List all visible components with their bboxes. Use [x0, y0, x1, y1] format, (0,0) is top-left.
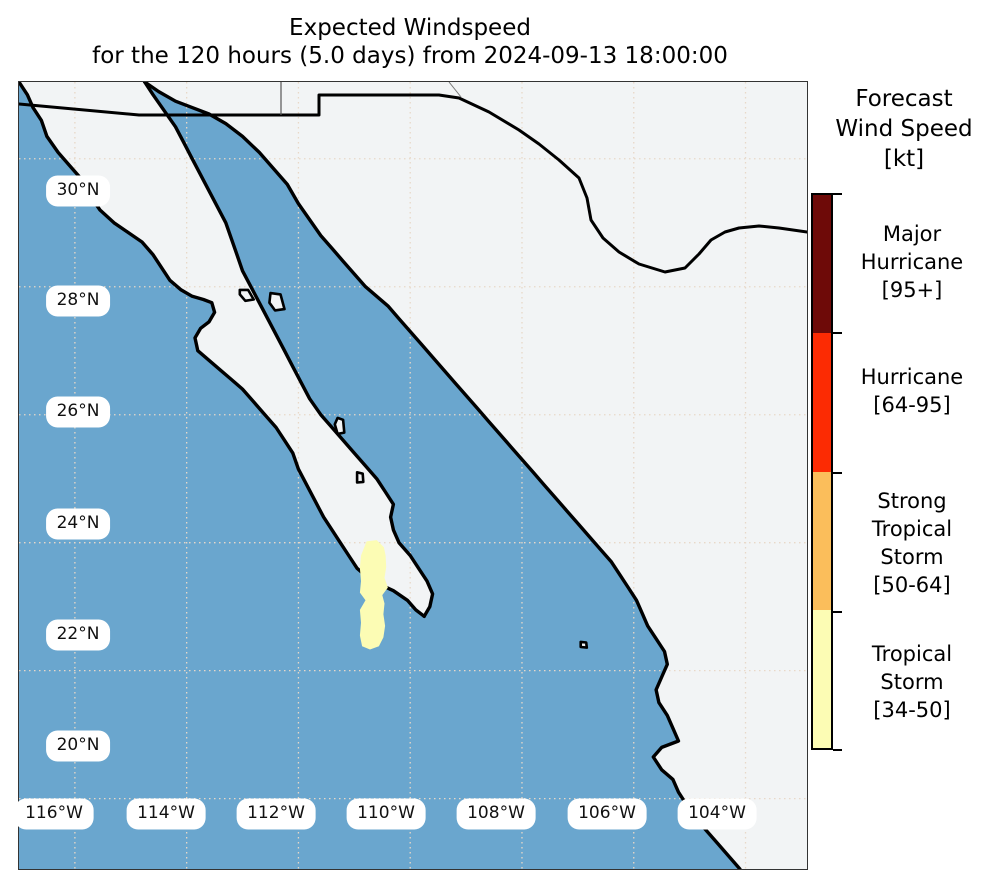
colorbar-label-strong-tropical-storm: Strong Tropical Storm [50-64]: [838, 487, 986, 599]
label-ts-line-1: Tropical: [838, 640, 986, 668]
colorbar-title-line-2: Wind Speed: [820, 114, 988, 144]
colorbar[interactable]: [811, 193, 833, 750]
colorbar-segment-hurricane[interactable]: [813, 333, 831, 471]
island-5: [581, 642, 587, 648]
label-major-hurricane-line-3: [95+]: [838, 276, 986, 304]
label-ts-line-2: Storm: [838, 668, 986, 696]
lat-label-28n: 28°N: [49, 288, 108, 314]
island-4: [357, 472, 363, 482]
lon-label-116w: 116°W: [17, 801, 91, 827]
label-strong-ts-line-4: [50-64]: [838, 571, 986, 599]
colorbar-segment-major-hurricane[interactable]: [813, 195, 831, 333]
colorbar-tick-50: [833, 611, 842, 613]
label-ts-line-3: [34-50]: [838, 696, 986, 724]
label-strong-ts-line-2: Tropical: [838, 515, 986, 543]
colorbar-tick-95: [833, 332, 842, 334]
lat-label-22n: 22°N: [49, 622, 108, 648]
lat-label-30n: 30°N: [49, 178, 108, 204]
map-canvas[interactable]: [18, 81, 808, 870]
lon-label-112w: 112°W: [239, 801, 313, 827]
colorbar-tick-top: [833, 193, 842, 195]
colorbar-segment-strong-tropical-storm[interactable]: [813, 472, 831, 610]
lon-label-108w: 108°W: [459, 801, 533, 827]
lon-label-114w: 114°W: [129, 801, 203, 827]
colorbar-title: Forecast Wind Speed [kt]: [820, 84, 988, 174]
colorbar-title-line-3: [kt]: [820, 144, 988, 174]
map-graphics: [19, 82, 807, 869]
title-line-2: for the 120 hours (5.0 days) from 2024-0…: [0, 42, 820, 70]
lon-label-106w: 106°W: [570, 801, 644, 827]
label-strong-ts-line-3: Storm: [838, 543, 986, 571]
label-major-hurricane-line-1: Major: [838, 220, 986, 248]
colorbar-label-hurricane: Hurricane [64-95]: [838, 363, 986, 419]
lat-label-26n: 26°N: [49, 399, 108, 425]
colorbar-title-line-1: Forecast: [820, 84, 988, 114]
title-line-1: Expected Windspeed: [0, 14, 820, 42]
lat-label-20n: 20°N: [49, 733, 108, 759]
lon-label-110w: 110°W: [349, 801, 423, 827]
lon-label-104w: 104°W: [680, 801, 754, 827]
colorbar-tick-64: [833, 472, 842, 474]
colorbar-tick-34: [833, 749, 842, 751]
label-hurricane-line-2: [64-95]: [838, 391, 986, 419]
page-title: Expected Windspeed for the 120 hours (5.…: [0, 14, 820, 70]
label-hurricane-line-1: Hurricane: [838, 363, 986, 391]
colorbar-label-major-hurricane: Major Hurricane [95+]: [838, 220, 986, 304]
colorbar-segment-tropical-storm[interactable]: [813, 610, 831, 748]
lat-label-24n: 24°N: [49, 511, 108, 537]
label-major-hurricane-line-2: Hurricane: [838, 248, 986, 276]
colorbar-label-tropical-storm: Tropical Storm [34-50]: [838, 640, 986, 724]
label-strong-ts-line-1: Strong: [838, 487, 986, 515]
